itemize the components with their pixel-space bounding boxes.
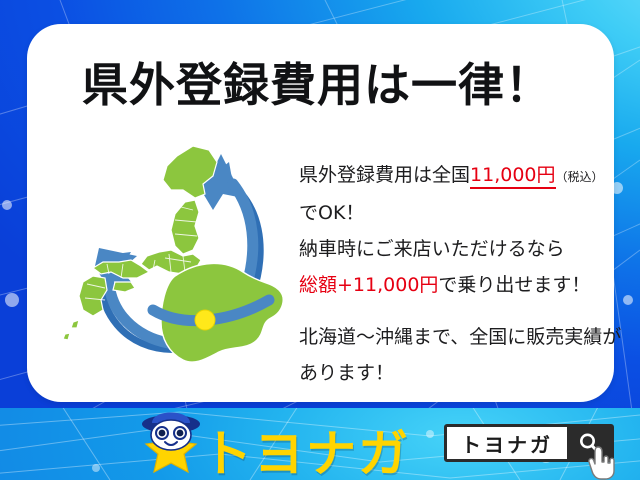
page-title: 県外登録費用は一律！ xyxy=(82,53,622,117)
japan-map-illustration xyxy=(57,132,292,407)
copy-line-2: でOK！ xyxy=(299,195,635,231)
brand-lockup: トヨナガ xyxy=(140,404,430,478)
region-closeup xyxy=(153,263,283,362)
brand-name: トヨナガ xyxy=(202,414,410,480)
copy-line-4-suffix: で乗り出せます！ xyxy=(438,274,590,296)
copy-line-1: 県外登録費用は全国11,000円（税込） xyxy=(299,157,635,195)
mascot-icon xyxy=(140,404,202,478)
copy-line-4: 総額+11,000円で乗り出せます！ xyxy=(299,267,635,303)
copy-spacer xyxy=(299,303,635,319)
copy-line-3: 納車時にご来店いただけるなら xyxy=(299,231,635,267)
search-input[interactable]: トヨナガ xyxy=(447,427,567,459)
banner-root: 県外登録費用は一律！ xyxy=(0,0,640,480)
location-marker xyxy=(195,310,215,330)
body-copy: 県外登録費用は全国11,000円（税込） でOK！ 納車時にご来店いただけるなら… xyxy=(299,157,635,391)
hand-pointer-icon xyxy=(586,444,620,480)
price-total-plus: 総額+11,000円 xyxy=(299,274,438,296)
copy-line-1-prefix: 県外登録費用は全国 xyxy=(299,164,470,186)
content-card: 県外登録費用は一律！ xyxy=(27,24,614,402)
price-nationwide: 11,000円 xyxy=(470,164,555,189)
copy-line-6: あります！ xyxy=(299,355,635,391)
tax-note: （税込） xyxy=(556,170,604,184)
copy-line-5: 北海道～沖縄まで、全国に販売実績が xyxy=(299,319,635,355)
